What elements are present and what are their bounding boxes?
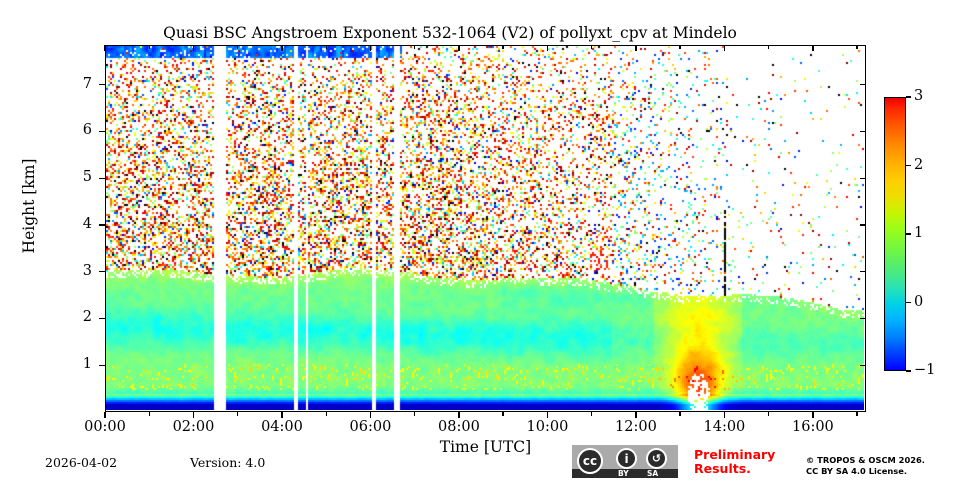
y-tick-right-3 — [860, 224, 866, 225]
x-tick-label-8: 16:00 — [783, 419, 843, 435]
x-minor-tick-top-3 — [237, 45, 238, 49]
cc-logo-icon: cc — [577, 448, 603, 474]
x-tick-top-1 — [193, 45, 194, 51]
heatmap-canvas — [106, 46, 864, 410]
y-tick-5 — [99, 131, 105, 132]
colorbar-gradient — [884, 97, 906, 371]
x-minor-tick-top-11 — [591, 45, 592, 49]
y-tick-right-0 — [860, 365, 866, 366]
y-tick-label-6: 7 — [62, 76, 92, 92]
colorbar — [884, 97, 906, 371]
y-tick-right-5 — [860, 131, 866, 132]
x-minor-tick-13 — [679, 412, 680, 416]
x-tick-top-4 — [458, 45, 459, 51]
x-tick-label-3: 06:00 — [340, 419, 400, 435]
copyright-line-1: © TROPOS & OSCM 2026. — [806, 455, 925, 466]
x-minor-tick-17 — [856, 412, 857, 416]
x-tick-label-4: 08:00 — [429, 419, 489, 435]
x-minor-tick-9 — [502, 412, 503, 416]
x-tick-0 — [104, 412, 105, 418]
y-axis-title: Height [km] — [20, 146, 38, 266]
colorbar-tick-0 — [906, 96, 911, 97]
x-minor-tick-7 — [414, 412, 415, 416]
x-tick-label-2: 04:00 — [252, 419, 312, 435]
x-minor-tick-top-15 — [768, 45, 769, 49]
colorbar-tick-3 — [906, 302, 911, 303]
colorbar-tick-label-1: 2 — [914, 157, 923, 173]
y-tick-label-2: 3 — [62, 263, 92, 279]
x-tick-8 — [812, 412, 813, 418]
x-tick-6 — [635, 412, 636, 418]
x-minor-tick-top-7 — [414, 45, 415, 49]
preliminary-line-2: Results. — [694, 462, 794, 476]
y-tick-3 — [99, 224, 105, 225]
y-tick-6 — [99, 84, 105, 85]
colorbar-tick-2 — [906, 233, 911, 234]
cc-by-icon: i — [616, 448, 637, 469]
y-tick-label-5: 6 — [62, 122, 92, 138]
cc-by-label: BY — [618, 469, 629, 478]
x-tick-7 — [724, 412, 725, 418]
x-minor-tick-top-9 — [502, 45, 503, 49]
footer-date: 2026-04-02 — [45, 455, 117, 470]
x-tick-1 — [193, 412, 194, 418]
cc-sa-icon: ↺ — [646, 448, 667, 469]
creative-commons-badge[interactable]: cc i ↺ BY SA — [572, 445, 678, 478]
x-minor-tick-top-5 — [326, 45, 327, 49]
x-tick-3 — [370, 412, 371, 418]
lidar-quicklook-figure: Quasi BSC Angstroem Exponent 532-1064 (V… — [0, 0, 960, 480]
x-tick-5 — [547, 412, 548, 418]
y-tick-right-1 — [860, 318, 866, 319]
y-tick-right-4 — [860, 178, 866, 179]
x-tick-2 — [281, 412, 282, 418]
y-tick-label-1: 2 — [62, 309, 92, 325]
x-minor-tick-11 — [591, 412, 592, 416]
x-tick-top-2 — [281, 45, 282, 51]
x-tick-top-3 — [370, 45, 371, 51]
x-tick-label-7: 14:00 — [694, 419, 754, 435]
x-minor-tick-top-1 — [149, 45, 150, 49]
preliminary-results-notice: Preliminary Results. — [694, 448, 794, 476]
y-tick-1 — [99, 318, 105, 319]
footer-version: Version: 4.0 — [190, 455, 265, 470]
copyright-notice: © TROPOS & OSCM 2026. CC BY SA 4.0 Licen… — [806, 455, 925, 477]
x-tick-top-0 — [104, 45, 105, 51]
x-tick-top-8 — [812, 45, 813, 51]
colorbar-tick-label-2: 1 — [914, 225, 923, 241]
x-minor-tick-top-17 — [856, 45, 857, 49]
x-tick-top-7 — [724, 45, 725, 51]
plot-area — [105, 45, 866, 412]
x-tick-top-6 — [635, 45, 636, 51]
figure-title: Quasi BSC Angstroem Exponent 532-1064 (V… — [0, 24, 900, 42]
preliminary-line-1: Preliminary — [694, 448, 794, 462]
y-tick-right-2 — [860, 271, 866, 272]
y-tick-0 — [99, 365, 105, 366]
cc-sa-label: SA — [647, 469, 658, 478]
x-minor-tick-1 — [149, 412, 150, 416]
y-tick-right-6 — [860, 84, 866, 85]
x-tick-label-1: 02:00 — [163, 419, 223, 435]
x-tick-label-6: 12:00 — [606, 419, 666, 435]
x-minor-tick-top-13 — [679, 45, 680, 49]
y-tick-2 — [99, 271, 105, 272]
copyright-line-2: CC BY SA 4.0 License. — [806, 466, 925, 477]
colorbar-tick-label-3: 0 — [914, 294, 923, 310]
x-tick-label-0: 00:00 — [75, 419, 135, 435]
colorbar-tick-4 — [906, 370, 911, 371]
x-minor-tick-5 — [326, 412, 327, 416]
colorbar-tick-label-0: 3 — [914, 88, 923, 104]
colorbar-tick-label-4: −1 — [914, 362, 935, 378]
y-tick-4 — [99, 178, 105, 179]
y-tick-label-4: 5 — [62, 169, 92, 185]
colorbar-tick-1 — [906, 165, 911, 166]
y-tick-label-3: 4 — [62, 216, 92, 232]
y-tick-label-0: 1 — [62, 356, 92, 372]
x-tick-label-5: 10:00 — [517, 419, 577, 435]
x-minor-tick-3 — [237, 412, 238, 416]
x-tick-top-5 — [547, 45, 548, 51]
x-minor-tick-15 — [768, 412, 769, 416]
x-tick-4 — [458, 412, 459, 418]
